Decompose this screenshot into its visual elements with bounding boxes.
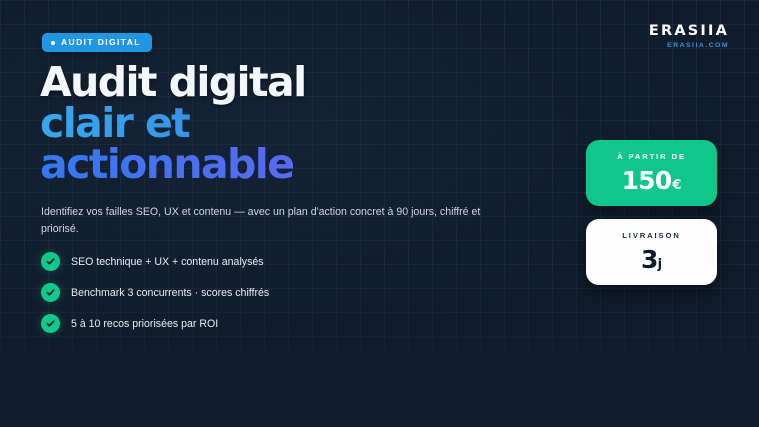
brand-name: ERASIIA [649,24,729,39]
list-item: SEO technique + UX + contenu analysés [41,252,269,271]
price-card-value: 150 € [622,168,682,193]
price-amount: 150 [622,168,672,193]
check-circle-icon [41,252,60,271]
feature-list: SEO technique + UX + contenu analysés Be… [41,252,269,333]
delivery-card: LIVRAISON 3 j [586,219,717,285]
delivery-card-caption: LIVRAISON [622,232,680,240]
bullet-dot-icon [51,41,55,45]
subheading-text: Identifiez vos failles SEO, UX et conten… [41,204,509,238]
brand-logo: ERASIIA ERASIIA.COM [649,24,729,49]
audit-digital-badge[interactable]: AUDIT DIGITAL [42,33,152,52]
list-item-label: Benchmark 3 concurrents · scores chiffré… [71,287,269,299]
list-item-label: SEO technique + UX + contenu analysés [71,256,264,268]
list-item-label: 5 à 10 recos priorisées par ROI [71,318,218,330]
slide-canvas: AUDIT DIGITAL ERASIIA ERASIIA.COM Audit … [0,0,759,427]
price-card: À PARTIR DE 150 € [586,140,717,206]
price-currency-symbol: € [672,179,681,192]
page-title: Audit digital clair et actionnable [40,62,520,185]
brand-website: ERASIIA.COM [649,43,729,50]
headline-line-2: clair et [40,103,520,144]
headline-line-1: Audit digital [40,62,520,103]
headline-line-3: actionnable [40,144,520,185]
delivery-amount: 3 [641,247,658,272]
check-circle-icon [41,283,60,302]
list-item: 5 à 10 recos priorisées par ROI [41,314,269,333]
price-card-caption: À PARTIR DE [617,153,686,161]
check-circle-icon [41,314,60,333]
list-item: Benchmark 3 concurrents · scores chiffré… [41,283,269,302]
badge-label: AUDIT DIGITAL [61,38,141,47]
delivery-card-value: 3 j [641,247,662,272]
delivery-unit: j [658,258,662,271]
